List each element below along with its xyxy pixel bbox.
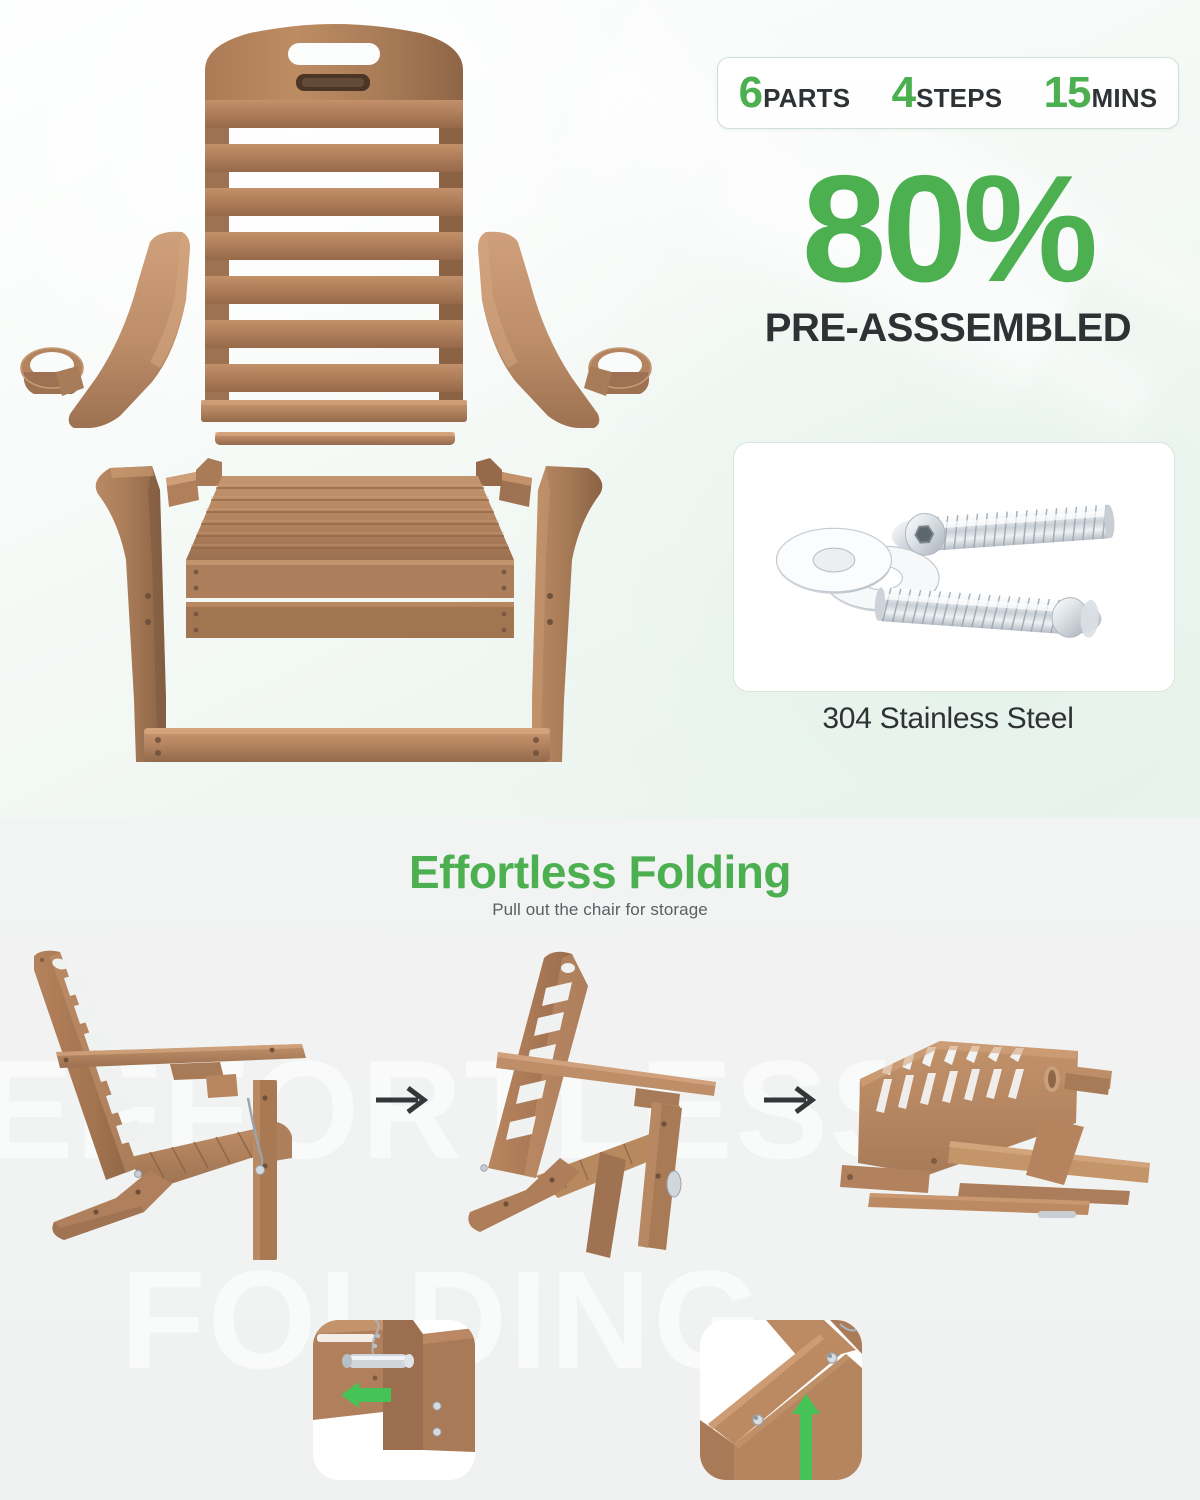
spec-badge: 6 PARTS 4 STEPS 15 MINS <box>717 57 1179 129</box>
spec-item-steps: 4 STEPS <box>892 71 1003 115</box>
left-leg <box>96 466 166 762</box>
bolt-upper <box>890 500 1116 557</box>
hardware-illustration <box>734 443 1174 691</box>
hardware-label: 304 Stainless Steel <box>717 702 1179 736</box>
pre-assembled-percent: 80% <box>717 160 1179 300</box>
back-crossbar <box>215 432 455 445</box>
detail-callout-lift-leg <box>700 1320 862 1480</box>
spec-unit: MINS <box>1092 85 1158 111</box>
folding-step-3-chair <box>810 1015 1180 1255</box>
washer-front <box>776 528 891 593</box>
left-spacer-block <box>166 472 199 507</box>
rear-runner <box>52 1170 172 1240</box>
spec-unit: STEPS <box>916 85 1002 111</box>
hardware-card <box>733 442 1175 692</box>
pre-assembled-caption: PRE-ASSSEMBLED <box>717 306 1179 351</box>
left-armrest-with-cupholder <box>21 232 190 428</box>
pre-assembled-stat: 80% PRE-ASSSEMBLED <box>717 160 1179 351</box>
right-spacer-block <box>499 472 532 507</box>
spec-number: 15 <box>1044 71 1091 115</box>
seat-slat-assembly <box>186 458 514 638</box>
chair-back-panel <box>201 24 467 422</box>
right-leg <box>532 466 602 762</box>
folding-step-2-chair <box>440 940 780 1270</box>
spec-number: 4 <box>892 71 915 115</box>
folding-section-title: Effortless Folding <box>0 845 1200 899</box>
spec-item-mins: 15 MINS <box>1044 71 1158 115</box>
bottom-support-bar <box>144 728 550 762</box>
exploded-chair-illustration <box>0 0 700 810</box>
folding-section-subtitle: Pull out the chair for storage <box>0 900 1200 920</box>
spec-item-parts: 6 PARTS <box>739 71 851 115</box>
spec-unit: PARTS <box>763 85 850 111</box>
pull-pin-illustration <box>313 1320 475 1480</box>
spec-number: 6 <box>739 71 762 115</box>
assembly-panel: 6 PARTS 4 STEPS 15 MINS 80% PRE-ASSSEMBL… <box>0 0 1200 818</box>
lift-leg-illustration <box>700 1320 862 1480</box>
step-arrow-1 <box>372 1080 434 1120</box>
detail-callout-pull-pin <box>313 1320 475 1480</box>
folding-step-1-chair <box>20 940 390 1270</box>
bolt-lower <box>874 584 1103 639</box>
right-armrest-with-cupholder <box>478 232 651 428</box>
